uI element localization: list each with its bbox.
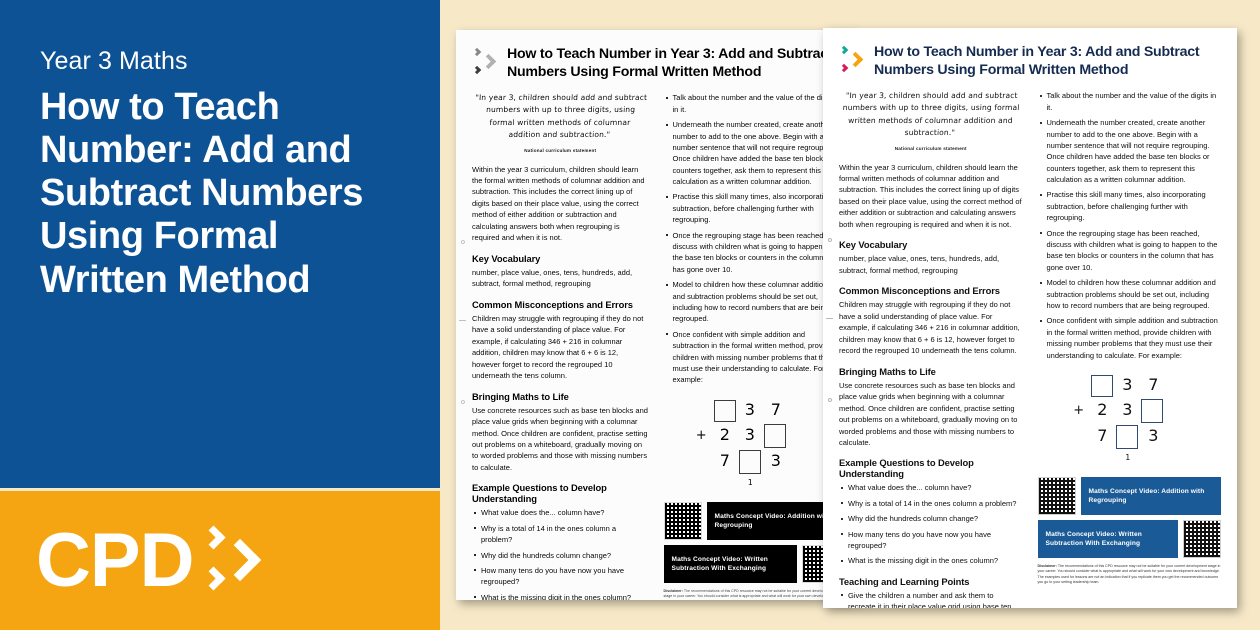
operator: + — [1073, 403, 1084, 418]
teaching-points-list-right: Talk about the number and the value of t… — [664, 92, 841, 385]
list-item: What value does the... column have? — [839, 482, 1023, 493]
qr-code-icon[interactable] — [664, 502, 702, 540]
digit: 3 — [771, 453, 781, 469]
hero-block: Year 3 Maths How to Teach Number: Add an… — [0, 0, 440, 488]
list-item: Once the regrouping stage has been reach… — [664, 230, 841, 276]
list-item: Once the regrouping stage has been reach… — [1038, 228, 1222, 274]
heading-key-vocabulary: Key Vocabulary — [472, 253, 649, 264]
digit: 3 — [1122, 377, 1132, 393]
intro-paragraph: Within the year 3 curriculum, children s… — [839, 162, 1023, 231]
operator: + — [696, 428, 707, 443]
document-title: How to Teach Number in Year 3: Add and S… — [507, 44, 840, 81]
list-item: Underneath the number created, create an… — [1038, 117, 1222, 185]
cpd-wordmark: CPD — [36, 523, 193, 599]
disclaimer-label: Disclaimer: — [664, 589, 683, 593]
left-promo-panel: Year 3 Maths How to Teach Number: Add an… — [0, 0, 440, 630]
list-item: Model to children how these columnar add… — [664, 279, 841, 325]
heading-key-vocabulary: Key Vocabulary — [839, 239, 1023, 250]
document-column-left: "In year 3, children should add and subt… — [472, 92, 649, 600]
video-link-row[interactable]: Maths Concept Video: Addition with Regro… — [664, 502, 841, 540]
video-link-row[interactable]: Maths Concept Video: Written Subtraction… — [1038, 520, 1222, 558]
heading-bringing-to-life: Bringing Maths to Life — [839, 366, 1023, 377]
carry-digit: 1 — [1125, 453, 1130, 462]
digit: 3 — [1122, 402, 1132, 418]
digit: 3 — [1148, 428, 1158, 444]
key-vocabulary-body: number, place value, ones, tens, hundred… — [839, 253, 1023, 276]
brand-block: CPD — [0, 488, 440, 630]
video-banner-label[interactable]: Maths Concept Video: Addition with Regro… — [1081, 477, 1222, 515]
missing-digit-box — [714, 400, 736, 422]
misconceptions-body: Children may struggle with regrouping if… — [839, 299, 1023, 356]
quote-text: "In year 3, children should add and subt… — [840, 90, 1022, 139]
digit: 2 — [1097, 402, 1107, 418]
document-header: How to Teach Number in Year 3: Add and S… — [472, 44, 840, 81]
list-item: Once confident with simple addition and … — [1038, 315, 1222, 361]
missing-digit-box — [1091, 375, 1113, 397]
document-column-right: Talk about the number and the value of t… — [1038, 90, 1222, 608]
curriculum-quote: "In year 3, children should add and subt… — [472, 92, 649, 154]
list-item: Once confident with simple addition and … — [664, 329, 841, 386]
heading-example-questions: Example Questions to Develop Understandi… — [472, 482, 649, 504]
list-item: Why is a total of 14 in the ones column … — [839, 498, 1023, 509]
missing-digit-box — [1141, 399, 1163, 423]
list-item: Why is a total of 14 in the ones column … — [472, 523, 649, 546]
hero-eyebrow: Year 3 Maths — [40, 48, 400, 76]
list-item: Model to children how these columnar add… — [1038, 277, 1222, 311]
cpd-logo: CPD — [36, 523, 265, 599]
disclaimer-body: The recommendations of this CPD resource… — [664, 589, 834, 600]
video-banner-label[interactable]: Maths Concept Video: Written Subtraction… — [1038, 520, 1179, 558]
disclaimer-label: Disclaimer: — [1038, 564, 1057, 568]
qr-code-icon[interactable] — [1038, 477, 1076, 515]
digit: 3 — [745, 427, 755, 443]
curriculum-quote: "In year 3, children should add and subt… — [839, 90, 1023, 152]
document-page-back[interactable]: How to Teach Number in Year 3: Add and S… — [456, 30, 856, 600]
quote-source: National curriculum statement — [474, 148, 647, 153]
heading-example-questions: Example Questions to Develop Understandi… — [839, 457, 1023, 479]
document-page-front[interactable]: How to Teach Number in Year 3: Add and S… — [823, 28, 1237, 608]
list-item: Underneath the number created, create an… — [664, 119, 841, 187]
list-item: What is the missing digit in the ones co… — [839, 555, 1023, 566]
disclaimer-body: The recommendations of this CPD resource… — [1038, 564, 1221, 584]
list-item: Why did the hundreds column change? — [472, 550, 649, 561]
video-link-row[interactable]: Maths Concept Video: Addition with Regro… — [1038, 477, 1222, 515]
document-column-left: "In year 3, children should add and subt… — [839, 90, 1023, 608]
list-item: What value does the... column have? — [472, 507, 649, 518]
key-vocabulary-body: number, place value, ones, tens, hundred… — [472, 267, 649, 290]
digit: 2 — [720, 427, 730, 443]
cpd-chevron-icon — [203, 525, 265, 597]
teaching-points-list-left: Give the children a number and ask them … — [839, 590, 1023, 608]
missing-digit-box — [1116, 425, 1138, 449]
digit: 7 — [1097, 428, 1107, 444]
page-title: How to Teach Number: Add and Subtract Nu… — [40, 86, 400, 303]
document-title: How to Teach Number in Year 3: Add and S… — [874, 42, 1221, 79]
worked-example-diagram: 3 7 + 2 3 7 3 1 — [664, 400, 841, 492]
disclaimer-text: Disclaimer: The recommendations of this … — [1038, 564, 1222, 586]
list-item: How many tens do you have now you have r… — [839, 529, 1023, 552]
list-item: Talk about the number and the value of t… — [1038, 90, 1222, 113]
document-column-right: Talk about the number and the value of t… — [664, 92, 841, 600]
quote-source: National curriculum statement — [841, 146, 1021, 151]
list-item: How many tens do you have now you have r… — [472, 565, 649, 588]
example-questions-list: What value does the... column have? Why … — [839, 482, 1023, 566]
heading-misconceptions: Common Misconceptions and Errors — [472, 299, 649, 310]
missing-digit-box — [739, 450, 761, 474]
heading-teaching-points: Teaching and Learning Points — [839, 576, 1023, 587]
heading-misconceptions: Common Misconceptions and Errors — [839, 285, 1023, 296]
bringing-to-life-body: Use concrete resources such as base ten … — [839, 380, 1023, 449]
digit: 7 — [771, 402, 781, 418]
document-preview-stage: How to Teach Number in Year 3: Add and S… — [440, 0, 1260, 630]
cpd-chevron-icon — [472, 46, 498, 79]
document-header: How to Teach Number in Year 3: Add and S… — [839, 42, 1221, 79]
list-item: Give the children a number and ask them … — [839, 590, 1023, 608]
digit: 7 — [1148, 377, 1158, 393]
misconceptions-body: Children may struggle with regrouping if… — [472, 313, 649, 382]
list-item: Why did the hundreds column change? — [839, 513, 1023, 524]
worked-example-diagram: 3 7 + 2 3 7 3 1 — [1038, 375, 1222, 467]
cpd-chevron-icon — [839, 44, 865, 77]
example-questions-list: What value does the... column have? Why … — [472, 507, 649, 600]
list-item: Practise this skill many times, also inc… — [664, 191, 841, 225]
carry-digit: 1 — [748, 478, 753, 487]
missing-digit-box — [764, 424, 786, 448]
list-item: What is the missing digit in the ones co… — [472, 592, 649, 600]
heading-bringing-to-life: Bringing Maths to Life — [472, 391, 649, 402]
video-link-row[interactable]: Maths Concept Video: Written Subtraction… — [664, 545, 841, 583]
disclaimer-text: Disclaimer: The recommendations of this … — [664, 589, 841, 600]
list-item: Practise this skill many times, also inc… — [1038, 189, 1222, 223]
intro-paragraph: Within the year 3 curriculum, children s… — [472, 164, 649, 244]
bringing-to-life-body: Use concrete resources such as base ten … — [472, 405, 649, 474]
video-banner-label[interactable]: Maths Concept Video: Written Subtraction… — [664, 545, 798, 583]
digit: 3 — [745, 402, 755, 418]
teaching-points-list-right: Talk about the number and the value of t… — [1038, 90, 1222, 361]
digit: 7 — [720, 453, 730, 469]
quote-text: "In year 3, children should add and subt… — [473, 92, 648, 141]
list-item: Talk about the number and the value of t… — [664, 92, 841, 115]
video-banner-label[interactable]: Maths Concept Video: Addition with Regro… — [707, 502, 841, 540]
qr-code-icon[interactable] — [1183, 520, 1221, 558]
